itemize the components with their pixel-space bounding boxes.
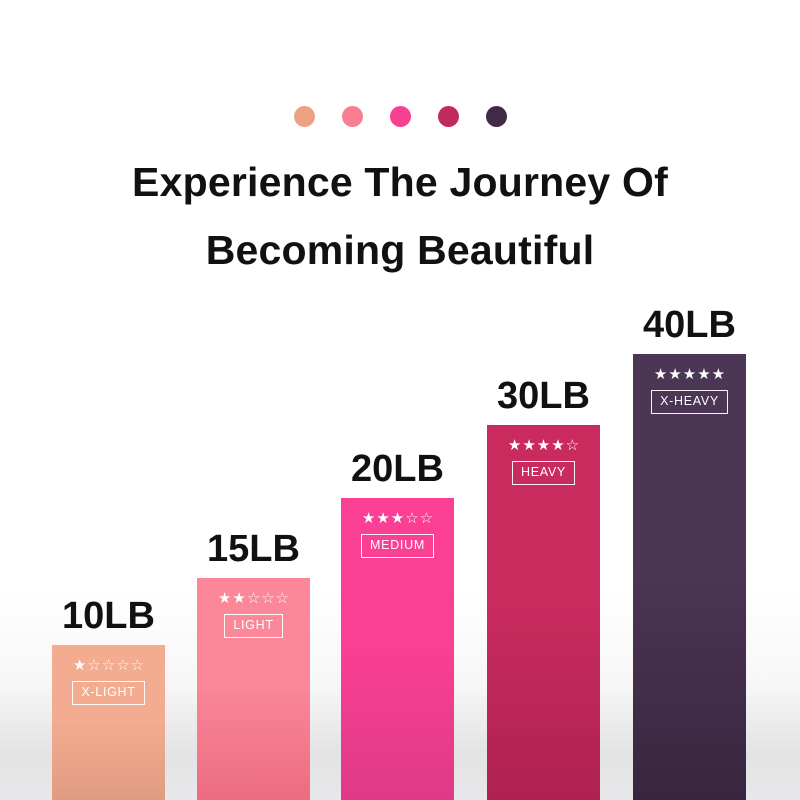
star-filled-icon: ★ — [712, 367, 725, 383]
star-filled-icon: ★ — [683, 367, 696, 383]
resistance-level-badge: X-HEAVY — [651, 390, 728, 414]
star-outline-icon: ☆ — [247, 591, 260, 607]
star-filled-icon: ★ — [376, 511, 389, 527]
bar-weight-label: 30LB — [497, 375, 590, 417]
bar-content: ★★☆☆☆LIGHT — [197, 591, 310, 638]
star-outline-icon: ☆ — [405, 511, 418, 527]
star-outline-icon: ☆ — [116, 658, 129, 674]
star-filled-icon: ★ — [391, 511, 404, 527]
bar-group-40lb[interactable]: 40LB★★★★★X-HEAVY — [633, 354, 746, 800]
star-rating: ★★☆☆☆ — [218, 591, 289, 607]
dot-x-heavy — [486, 106, 507, 127]
page-title-line-1: Experience The Journey Of — [0, 148, 800, 216]
dot-x-light — [294, 106, 315, 127]
dot-light — [342, 106, 363, 127]
star-outline-icon: ☆ — [261, 591, 274, 607]
star-rating: ★★★★★ — [654, 367, 725, 383]
bar-content: ★★★★★X-HEAVY — [633, 367, 746, 414]
star-filled-icon: ★ — [537, 438, 550, 454]
dot-medium — [390, 106, 411, 127]
star-filled-icon: ★ — [697, 367, 710, 383]
resistance-band-bar[interactable]: ★☆☆☆☆X-LIGHT — [52, 645, 165, 800]
star-outline-icon: ☆ — [420, 511, 433, 527]
bar-group-10lb[interactable]: 10LB★☆☆☆☆X-LIGHT — [52, 645, 165, 800]
star-rating: ★☆☆☆☆ — [73, 658, 144, 674]
star-outline-icon: ☆ — [131, 658, 144, 674]
bar-group-15lb[interactable]: 15LB★★☆☆☆LIGHT — [197, 578, 310, 800]
bar-content: ★★★☆☆MEDIUM — [341, 511, 454, 558]
color-dot-row — [0, 106, 800, 127]
page-title-line-2: Becoming Beautiful — [0, 216, 800, 284]
star-filled-icon: ★ — [232, 591, 245, 607]
star-filled-icon: ★ — [73, 658, 86, 674]
bar-weight-label: 15LB — [207, 528, 300, 570]
star-outline-icon: ☆ — [102, 658, 115, 674]
resistance-band-bar[interactable]: ★★★★☆HEAVY — [487, 425, 600, 800]
bar-group-30lb[interactable]: 30LB★★★★☆HEAVY — [487, 425, 600, 800]
resistance-band-bar[interactable]: ★★☆☆☆LIGHT — [197, 578, 310, 800]
star-filled-icon: ★ — [218, 591, 231, 607]
bar-content: ★★★★☆HEAVY — [487, 438, 600, 485]
page-title: Experience The Journey Of Becoming Beaut… — [0, 148, 800, 284]
star-filled-icon: ★ — [362, 511, 375, 527]
bar-weight-label: 40LB — [643, 304, 736, 346]
star-outline-icon: ☆ — [87, 658, 100, 674]
product-infographic: Experience The Journey Of Becoming Beaut… — [0, 0, 800, 800]
star-filled-icon: ★ — [551, 438, 564, 454]
dot-heavy — [438, 106, 459, 127]
star-rating: ★★★★☆ — [508, 438, 579, 454]
resistance-band-bar[interactable]: ★★★★★X-HEAVY — [633, 354, 746, 800]
resistance-band-bar[interactable]: ★★★☆☆MEDIUM — [341, 498, 454, 800]
resistance-level-badge: MEDIUM — [361, 534, 434, 558]
star-filled-icon: ★ — [522, 438, 535, 454]
resistance-level-badge: HEAVY — [512, 461, 575, 485]
star-filled-icon: ★ — [668, 367, 681, 383]
bar-content: ★☆☆☆☆X-LIGHT — [52, 658, 165, 705]
resistance-level-badge: X-LIGHT — [72, 681, 144, 705]
resistance-level-badge: LIGHT — [224, 614, 282, 638]
bar-weight-label: 20LB — [351, 448, 444, 490]
bar-weight-label: 10LB — [62, 595, 155, 637]
star-filled-icon: ★ — [508, 438, 521, 454]
star-filled-icon: ★ — [654, 367, 667, 383]
star-outline-icon: ☆ — [276, 591, 289, 607]
star-rating: ★★★☆☆ — [362, 511, 433, 527]
star-outline-icon: ☆ — [566, 438, 579, 454]
bar-group-20lb[interactable]: 20LB★★★☆☆MEDIUM — [341, 498, 454, 800]
